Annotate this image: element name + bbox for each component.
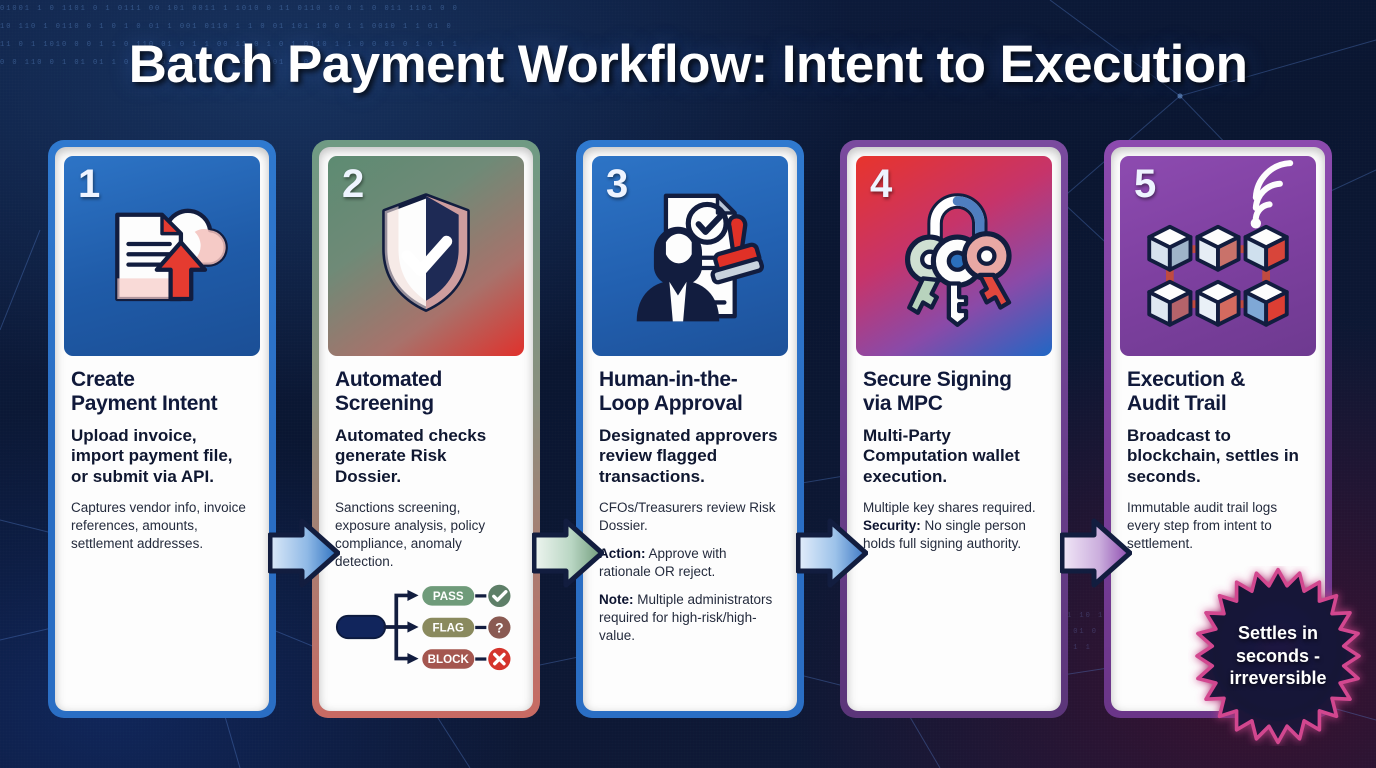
step-4-note-0: Multiple key shares required. Security: … [863, 499, 1045, 553]
step-4-icon-panel: 4 [856, 156, 1052, 356]
page-title: Batch Payment Workflow: Intent to Execut… [0, 34, 1376, 95]
step-2-lead: Automated checks generate Risk Dossier. [335, 426, 517, 487]
step-4-lead: Multi-Party Computation wallet execution… [863, 426, 1045, 487]
step-1-lead: Upload invoice, import payment file, or … [71, 426, 253, 487]
decision-label-pass: PASS [433, 590, 464, 603]
step-card-3[interactable]: 3 [576, 140, 804, 718]
step-1-title: Create Payment Intent [71, 368, 253, 415]
flow-arrow-4-to-5 [1060, 515, 1132, 591]
step-4-note-0-text: Multiple key shares required. [863, 500, 1036, 515]
settlement-badge-text: Settles in seconds - irreversible [1188, 566, 1368, 746]
workflow-steps-row: 1 [48, 140, 1333, 718]
step-3-note-2-label: Note: [599, 592, 634, 607]
step-5-title: Execution & Audit Trail [1127, 368, 1309, 415]
flow-arrow-3-to-4 [796, 515, 868, 591]
step-3-number: 3 [606, 162, 628, 207]
step-card-1[interactable]: 1 [48, 140, 276, 718]
step-card-2[interactable]: 2 Automated Screening Automated checks g… [312, 140, 540, 718]
step-5-number: 5 [1134, 162, 1156, 207]
step-1-number: 1 [78, 162, 100, 207]
step-2-body: Automated Screening Automated checks gen… [328, 356, 524, 701]
decision-label-flag: FLAG [433, 622, 465, 635]
step-4-note-1-label: Security: [863, 518, 921, 533]
step-2-icon-panel: 2 [328, 156, 524, 356]
step-3-note-2: Note: Multiple administrators required f… [599, 591, 781, 645]
flow-arrow-1-to-2 [268, 515, 340, 591]
settlement-badge: Settles in seconds - irreversible [1188, 566, 1368, 746]
screening-decision-diagram: PASS FLAG ? BLOCK [335, 581, 517, 673]
step-1-icon-panel: 1 [64, 156, 260, 356]
question-icon: ? [495, 620, 504, 636]
step-3-note-1: Action: Approve with rationale OR reject… [599, 545, 781, 581]
step-1-body: Create Payment Intent Upload invoice, im… [64, 356, 260, 701]
step-3-note-0: CFOs/Treasurers review Risk Dossier. [599, 499, 781, 535]
step-2-note-0: Sanctions screening, exposure analysis, … [335, 499, 517, 571]
step-3-icon-panel: 3 [592, 156, 788, 356]
step-3-title: Human-in-the- Loop Approval [599, 368, 781, 415]
step-card-4[interactable]: 4 [840, 140, 1068, 718]
step-5-note-0: Immutable audit trail logs every step fr… [1127, 499, 1309, 553]
step-2-title: Automated Screening [335, 368, 517, 415]
step-3-body: Human-in-the- Loop Approval Designated a… [592, 356, 788, 701]
step-4-number: 4 [870, 162, 892, 207]
decision-label-block: BLOCK [428, 653, 470, 666]
step-4-title: Secure Signing via MPC [863, 368, 1045, 415]
step-1-note-0: Captures vendor info, invoice references… [71, 499, 253, 553]
step-3-note-1-label: Action: [599, 546, 646, 561]
step-3-lead: Designated approvers review flagged tran… [599, 426, 781, 487]
step-5-icon-panel: 5 [1120, 156, 1316, 356]
step-2-number: 2 [342, 162, 364, 207]
step-5-lead: Broadcast to blockchain, settles in seco… [1127, 426, 1309, 487]
flow-arrow-2-to-3 [532, 515, 604, 591]
step-4-body: Secure Signing via MPC Multi-Party Compu… [856, 356, 1052, 701]
